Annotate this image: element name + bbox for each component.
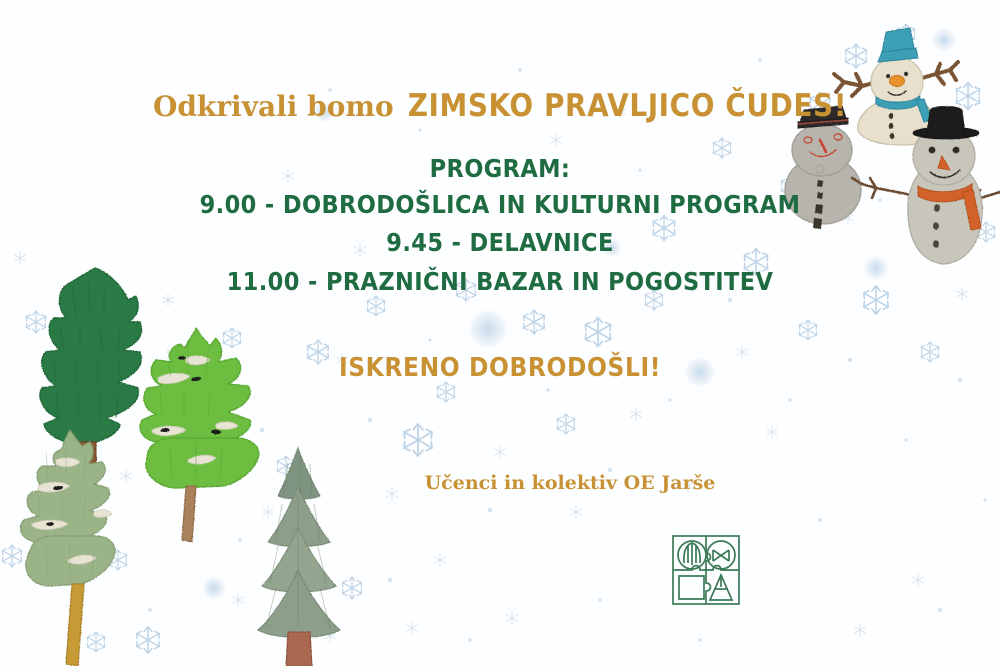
winter-invitation-poster: Odkrivali bomoZIMSKO PRAVLJICO ČUDES! PR… <box>0 0 1000 666</box>
program-item-1: 9.00 - DOBRODOŠLICA IN KULTURNI PROGRAM <box>0 190 1000 219</box>
program-heading: PROGRAM: <box>0 154 1000 183</box>
tree-pale-sage-snowy <box>20 430 115 666</box>
flying-snowman-teal-hat <box>834 28 958 145</box>
oe-jarse-puzzle-logo <box>670 533 742 607</box>
headline-lead: Odkrivali bomo <box>153 90 408 123</box>
welcome-message: ISKRENO DOBRODOŠLI! <box>0 353 1000 383</box>
program-item-3: 11.00 - PRAZNIČNI BAZAR IN POGOSTITEV <box>0 267 1000 296</box>
signature-line: Učenci in kolektiv OE Jarše <box>0 472 1000 494</box>
program-item-2: 9.45 - DELAVNICE <box>0 228 1000 257</box>
page-title: Odkrivali bomoZIMSKO PRAVLJICO ČUDES! <box>0 88 1000 124</box>
headline-emphasis: ZIMSKO PRAVLJICO ČUDES! <box>408 88 847 124</box>
puzzle-logo-icon <box>670 533 742 607</box>
